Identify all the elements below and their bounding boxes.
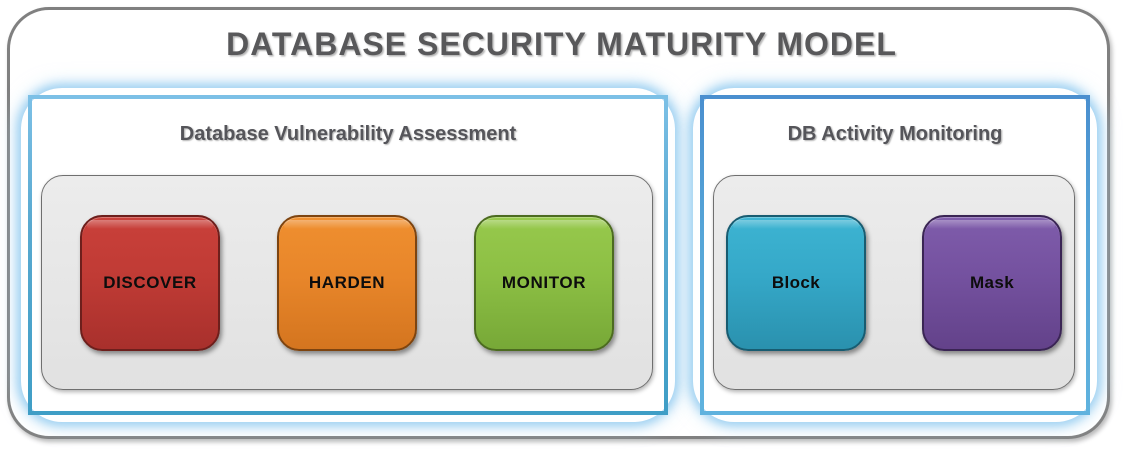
stage-tray-right-inner: Block Mask — [714, 176, 1074, 389]
stage-tray-left: DISCOVER HARDEN MONITOR — [41, 175, 653, 390]
database-security-maturity-model-diagram: DATABASE SECURITY MATURITY MODEL Databas… — [0, 0, 1123, 452]
stage-label-block: Block — [772, 273, 820, 293]
stage-box-monitor[interactable]: MONITOR — [474, 215, 614, 351]
stage-label-discover: DISCOVER — [103, 273, 197, 293]
stage-tray-right: Block Mask — [713, 175, 1075, 390]
panel-database-vulnerability-assessment: Database Vulnerability Assessment DISCOV… — [28, 95, 668, 415]
stage-label-harden: HARDEN — [309, 273, 385, 293]
stage-box-mask[interactable]: Mask — [922, 215, 1062, 351]
panel-db-activity-monitoring: DB Activity Monitoring Block Mask — [700, 95, 1090, 415]
stage-box-harden[interactable]: HARDEN — [277, 215, 417, 351]
stage-box-discover[interactable]: DISCOVER — [80, 215, 220, 351]
stage-label-monitor: MONITOR — [502, 273, 586, 293]
stage-label-mask: Mask — [970, 273, 1014, 293]
stage-tray-left-inner: DISCOVER HARDEN MONITOR — [42, 176, 652, 389]
panel-heading-database-vulnerability-assessment: Database Vulnerability Assessment — [28, 123, 668, 146]
panel-heading-db-activity-monitoring: DB Activity Monitoring — [700, 123, 1090, 146]
page-title: DATABASE SECURITY MATURITY MODEL — [0, 26, 1123, 63]
stage-box-block[interactable]: Block — [726, 215, 866, 351]
